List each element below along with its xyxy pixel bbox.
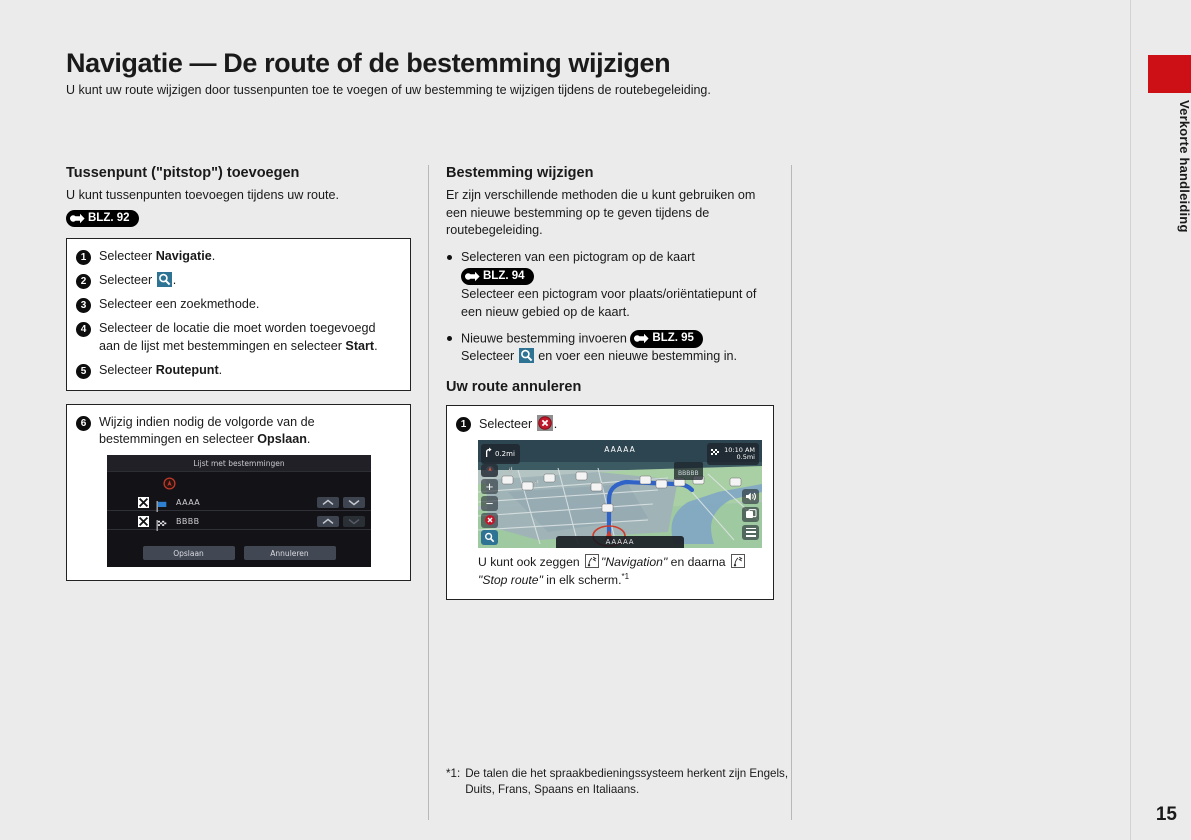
turn-arrow-icon bbox=[484, 445, 492, 463]
page-subtitle: U kunt uw route wijzigen door tussenpunt… bbox=[66, 83, 1090, 99]
footnote-marker-ref: *1 bbox=[621, 572, 629, 581]
step-number-4: 4 bbox=[76, 322, 91, 337]
left-section-heading: Tussenpunt ("pitstop") toevoegen bbox=[66, 165, 411, 182]
delete-x-icon[interactable] bbox=[138, 497, 149, 508]
step-6: 6 Wijzig indien nodig de volgorde van de… bbox=[76, 414, 400, 448]
arrow-right-icon bbox=[70, 213, 85, 224]
step-5: 5 Selecteer Routepunt. bbox=[76, 362, 400, 379]
blz-reference-94[interactable]: BLZ. 94 bbox=[461, 268, 534, 286]
destination-list-title: Lijst met bestemmingen bbox=[107, 455, 371, 472]
cancel-route-map-button[interactable] bbox=[481, 513, 498, 528]
blz-reference-92[interactable]: BLZ. 92 bbox=[66, 210, 139, 228]
delete-x-icon[interactable] bbox=[138, 516, 149, 527]
page-content: Navigatie — De route of de bestemming wi… bbox=[0, 0, 1130, 840]
destination-flag-icon bbox=[711, 445, 721, 463]
move-down-button-disabled bbox=[343, 516, 365, 527]
table-row-label: AAAA bbox=[176, 498, 200, 507]
blue-flag-icon bbox=[156, 497, 168, 508]
search-icon[interactable] bbox=[157, 272, 172, 287]
arrow-right-icon bbox=[634, 333, 649, 344]
cancel-step-1-after: . bbox=[554, 417, 558, 431]
step-2: 2 Selecteer . bbox=[76, 272, 400, 289]
procedure-box-step-6: 6 Wijzig indien nodig de volgorde van de… bbox=[66, 404, 411, 581]
origin-marker-icon bbox=[163, 475, 176, 488]
blz-reference-95[interactable]: BLZ. 95 bbox=[630, 330, 703, 348]
voice-command-2: "Stop route" bbox=[478, 573, 543, 587]
eta-chip: 10:10 AM 0.5mi bbox=[707, 443, 759, 465]
left-section-intro: U kunt tussenpunten toevoegen tijdens uw… bbox=[66, 187, 411, 204]
two-column-body: Tussenpunt ("pitstop") toevoegen U kunt … bbox=[66, 165, 1076, 820]
voice-command-note: U kunt ook zeggen "Navigation" en daarna… bbox=[478, 554, 763, 589]
list-item: Selecteren van een pictogram op de kaart… bbox=[446, 249, 774, 322]
bottom-street-label: AAAAA bbox=[606, 538, 635, 546]
map-left-controls: + − bbox=[481, 464, 498, 545]
bullet-1-line2: Selecteer een pictogram voor plaats/orië… bbox=[461, 287, 756, 318]
device-screenshot-wrap: Lijst met bestemmingen AAAA bbox=[107, 455, 400, 567]
method-list: Selecteren van een pictogram op de kaart… bbox=[446, 249, 774, 366]
right-section-intro: Er zijn verschillende methoden die u kun… bbox=[446, 187, 774, 239]
blz-reference-92-wrap: BLZ. 92 bbox=[66, 209, 411, 227]
list-item: Nieuwe bestemming invoeren BLZ. 95 Selec… bbox=[446, 330, 774, 365]
cancel-route-heading: Uw route annuleren bbox=[446, 379, 774, 396]
step-1-before: Selecteer bbox=[99, 249, 156, 263]
map-view-icon[interactable] bbox=[742, 507, 759, 522]
chapter-color-block bbox=[1148, 55, 1191, 93]
current-street-label: AAAAA bbox=[604, 445, 636, 454]
table-row[interactable]: AAAA bbox=[107, 494, 371, 511]
arrow-right-icon bbox=[465, 271, 480, 282]
step-4-bold: Start bbox=[345, 339, 374, 353]
step-number-6: 6 bbox=[76, 416, 91, 431]
step-5-after: . bbox=[219, 363, 223, 377]
step-2-text: Selecteer . bbox=[99, 272, 176, 289]
step-5-bold: Routepunt bbox=[156, 363, 219, 377]
step-4-text: Selecteer de locatie die moet worden toe… bbox=[99, 320, 400, 354]
step-6-bold: Opslaan bbox=[257, 432, 307, 446]
checkered-flag-icon bbox=[156, 516, 168, 527]
step-5-before: Selecteer bbox=[99, 363, 156, 377]
road-label-badge: BBBBB bbox=[674, 462, 703, 480]
voice-note-before: U kunt ook zeggen bbox=[478, 555, 583, 569]
right-section-heading: Bestemming wijzigen bbox=[446, 165, 774, 182]
voice-note-after: in elk scherm. bbox=[543, 573, 622, 587]
cancel-step-1: 1 Selecteer . bbox=[456, 415, 763, 433]
table-row-label: BBBB bbox=[176, 517, 200, 526]
bullet-1-line1: Selecteren van een pictogram op de kaart bbox=[461, 250, 695, 264]
chapter-tab-label: Verkorte handleiding bbox=[1131, 100, 1191, 233]
right-column: Bestemming wijzigen Er zijn verschillend… bbox=[429, 165, 774, 820]
step-number-5: 5 bbox=[76, 364, 91, 379]
cancel-step-1-before: Selecteer bbox=[479, 417, 536, 431]
destination-list-buttons: Opslaan Annuleren bbox=[107, 546, 371, 560]
left-column: Tussenpunt ("pitstop") toevoegen U kunt … bbox=[66, 165, 411, 820]
move-down-button[interactable] bbox=[343, 497, 365, 508]
footnote: *1: De talen die het spraakbedieningssys… bbox=[446, 766, 791, 798]
reorder-buttons bbox=[317, 516, 365, 527]
page-header: Navigatie — De route of de bestemming wi… bbox=[0, 48, 1130, 99]
step-number-3: 3 bbox=[76, 298, 91, 313]
step-3-text: Selecteer een zoekmethode. bbox=[99, 296, 259, 313]
step-1-bold: Navigatie bbox=[156, 249, 212, 263]
step-number-1: 1 bbox=[76, 250, 91, 265]
side-tab: Verkorte handleiding bbox=[1130, 0, 1191, 840]
destination-list-screen: Lijst met bestemmingen AAAA bbox=[107, 455, 371, 567]
cancel-route-icon[interactable] bbox=[537, 415, 553, 431]
svg-text:🍴: 🍴 bbox=[507, 466, 514, 474]
cancel-step-1-text: Selecteer . bbox=[479, 415, 557, 433]
move-up-button[interactable] bbox=[317, 497, 339, 508]
bullet-2-line2-after: en voer een nieuwe bestemming in. bbox=[535, 349, 737, 363]
step-4: 4 Selecteer de locatie die moet worden t… bbox=[76, 320, 400, 354]
compass-icon[interactable] bbox=[481, 464, 498, 477]
step-1: 1 Selecteer Navigatie. bbox=[76, 248, 400, 265]
zoom-in-button[interactable]: + bbox=[481, 479, 498, 494]
page-number: 15 bbox=[1156, 804, 1177, 826]
blz-reference-95-label: BLZ. 95 bbox=[652, 331, 694, 347]
zoom-out-button[interactable]: − bbox=[481, 496, 498, 511]
page-title: Navigatie — De route of de bestemming wi… bbox=[66, 48, 1090, 79]
step-5-text: Selecteer Routepunt. bbox=[99, 362, 222, 379]
step-3: 3 Selecteer een zoekmethode. bbox=[76, 296, 400, 313]
next-turn-distance-chip: 0.2mi bbox=[481, 444, 520, 464]
search-icon[interactable] bbox=[519, 348, 534, 363]
footnote-text: De talen die het spraakbedieningssysteem… bbox=[465, 766, 791, 798]
menu-icon[interactable] bbox=[742, 525, 759, 540]
blz-reference-94-label: BLZ. 94 bbox=[483, 269, 525, 285]
step-6-text: Wijzig indien nodig de volgorde van de b… bbox=[99, 414, 400, 448]
bullet-2-line2-before: Selecteer bbox=[461, 349, 518, 363]
footnote-marker: *1: bbox=[446, 766, 460, 798]
step-1-after: . bbox=[212, 249, 216, 263]
voice-command-icon bbox=[585, 554, 599, 568]
svg-text:🍴: 🍴 bbox=[533, 479, 540, 487]
step-2-before: Selecteer bbox=[99, 273, 156, 287]
save-button[interactable]: Opslaan bbox=[143, 546, 235, 560]
bottom-street-bar: AAAAA bbox=[556, 536, 684, 548]
voice-command-1: "Navigation" bbox=[601, 555, 667, 569]
map-screenshot-wrap: 🍴 🍴 0.2mi AAAAA bbox=[478, 440, 763, 548]
bullet-2-line1: Nieuwe bestemming invoeren bbox=[461, 331, 627, 345]
cancel-button[interactable]: Annuleren bbox=[244, 546, 336, 560]
reorder-buttons bbox=[317, 497, 365, 508]
step-number-1: 1 bbox=[456, 417, 471, 432]
map-right-controls bbox=[742, 489, 759, 540]
step-6-after: . bbox=[307, 432, 311, 446]
blz-reference-92-label: BLZ. 92 bbox=[88, 211, 130, 227]
procedure-box-steps-1-5: 1 Selecteer Navigatie. 2 Selecteer . 3 S… bbox=[66, 238, 411, 391]
step-4-before: Selecteer de locatie die moet worden toe… bbox=[99, 321, 376, 352]
navigation-map-screen: 🍴 🍴 0.2mi AAAAA bbox=[478, 440, 762, 548]
move-up-button[interactable] bbox=[317, 516, 339, 527]
eta-distance: 0.5mi bbox=[724, 454, 755, 461]
next-turn-distance: 0.2mi bbox=[495, 450, 515, 458]
procedure-box-cancel-route: 1 Selecteer . bbox=[446, 405, 774, 601]
step-2-after: . bbox=[173, 273, 177, 287]
step-1-text: Selecteer Navigatie. bbox=[99, 248, 215, 265]
voice-command-icon bbox=[731, 554, 745, 568]
step-4-after: . bbox=[374, 339, 378, 353]
voice-note-mid: en daarna bbox=[667, 555, 729, 569]
step-number-2: 2 bbox=[76, 274, 91, 289]
road-label-text: BBBBB bbox=[678, 470, 699, 477]
search-map-button[interactable] bbox=[481, 530, 498, 545]
column-divider-right bbox=[791, 165, 792, 820]
volume-icon[interactable] bbox=[742, 489, 759, 504]
table-row[interactable]: BBBB bbox=[107, 513, 371, 530]
